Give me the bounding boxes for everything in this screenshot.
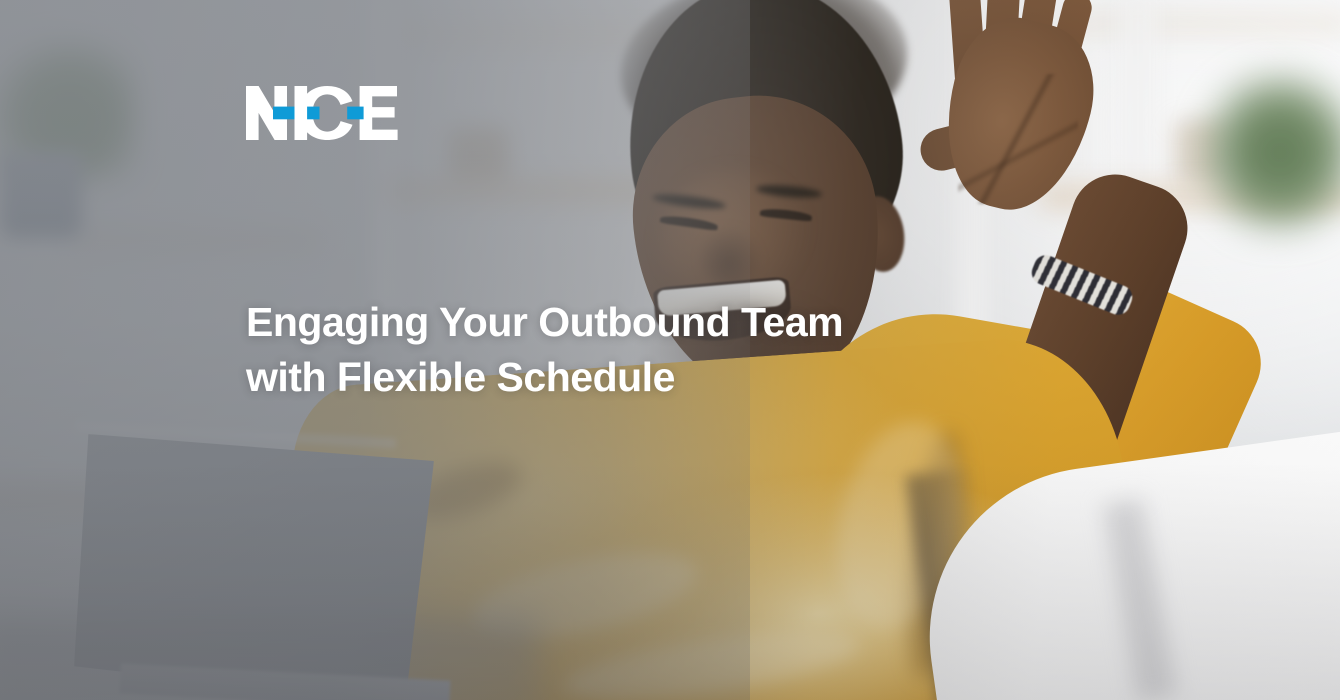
page-title: Engaging Your Outbound Team with Flexibl… (246, 295, 946, 403)
title-line-2: with Flexible Schedule (246, 350, 946, 404)
title-line-1: Engaging Your Outbound Team (246, 295, 946, 349)
nice-logo-icon (246, 86, 398, 140)
hero-content: Engaging Your Outbound Team with Flexibl… (0, 0, 1340, 700)
nice-logo[interactable] (246, 86, 398, 140)
hero-banner: Engaging Your Outbound Team with Flexibl… (0, 0, 1340, 700)
